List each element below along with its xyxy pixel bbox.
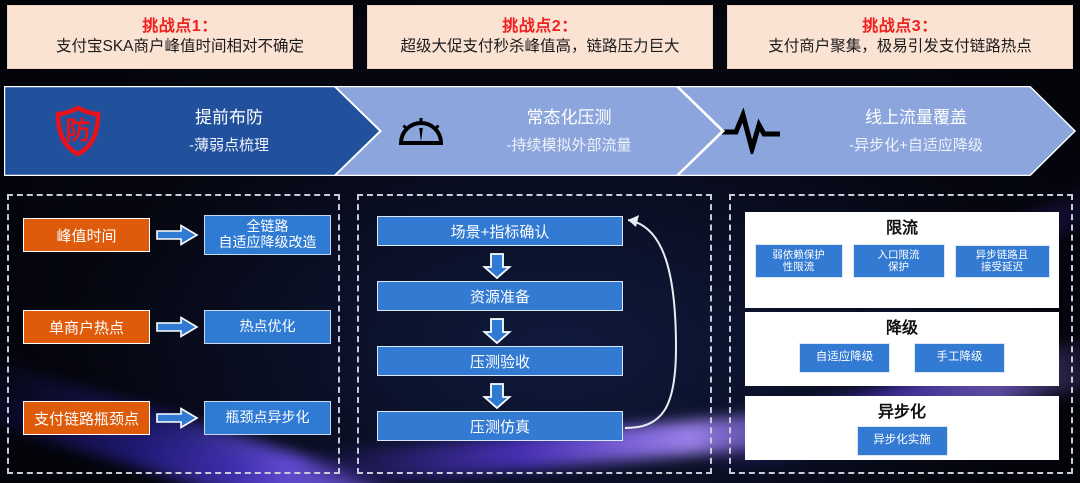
chip-item[interactable]: 异步链路且 接受延迟 — [955, 245, 1050, 278]
chip-group: 弱依赖保护 性限流 入口限流 保护 异步链路且 接受延迟 — [755, 244, 1050, 278]
chip-line-2: 接受延迟 — [981, 261, 1023, 273]
challenge-title: 挑战点1： — [142, 19, 217, 35]
right-panel: 限流 弱依赖保护 性限流 入口限流 保护 异步链路且 — [729, 194, 1073, 474]
challenge-row: 挑战点1： 支付宝SKA商户峰值时间相对不确定 挑战点2： 超级大促支付秒杀峰值… — [0, 0, 1080, 74]
flow-step-4[interactable]: 压测仿真 — [377, 411, 623, 441]
card-degrade: 降级 自适应降级 手工降级 — [745, 312, 1059, 386]
problem-box[interactable]: 峰值时间 — [23, 218, 150, 252]
chip-line-1: 入口限流 — [878, 249, 920, 261]
left-panel: 峰值时间 全链路 自适应降级改造 单商户热点 热点优化 — [7, 194, 340, 474]
middle-panel: 场景+指标确认 资源准备 压测验收 压测仿真 — [357, 194, 712, 474]
chip-line-1: 弱依赖保护 — [772, 249, 825, 261]
card-async: 异步化 异步化实施 — [745, 396, 1059, 460]
chip-line-1: 异步链路且 — [976, 249, 1029, 261]
arrow-down-icon — [482, 317, 512, 345]
flow-step-2[interactable]: 资源准备 — [377, 281, 623, 311]
chip-group: 异步化实施 — [857, 426, 948, 456]
chip-item[interactable]: 入口限流 保护 — [853, 244, 945, 278]
challenge-title: 挑战点3： — [862, 19, 937, 35]
chip-item[interactable]: 手工降级 — [914, 343, 1005, 373]
feedback-loop-arrow — [614, 198, 698, 436]
solution-line-2: 自适应降级改造 — [219, 234, 317, 250]
chip-group: 自适应降级 手工降级 — [799, 343, 1005, 373]
challenge-title: 挑战点2： — [502, 19, 577, 35]
card-heading: 限流 — [886, 221, 918, 237]
challenge-desc: 支付商户聚集，极易引发支付链路热点 — [768, 39, 1032, 55]
flow-step-3[interactable]: 压测验收 — [377, 346, 623, 376]
left-row-1: 峰值时间 全链路 自适应降级改造 — [23, 218, 331, 252]
chip-line-2: 性限流 — [783, 261, 815, 273]
arrow-down-icon — [482, 382, 512, 410]
card-limit: 限流 弱依赖保护 性限流 入口限流 保护 异步链路且 — [745, 212, 1059, 308]
card-heading: 降级 — [886, 321, 918, 337]
arrow-down-icon — [482, 252, 512, 280]
band-outline — [4, 86, 1076, 176]
chip-item[interactable]: 弱依赖保护 性限流 — [755, 244, 843, 278]
card-heading: 异步化 — [878, 405, 926, 421]
problem-box[interactable]: 支付链路瓶颈点 — [23, 401, 150, 435]
left-row-3: 支付链路瓶颈点 瓶颈点异步化 — [23, 401, 331, 435]
solution-line-1: 全链路 — [247, 218, 289, 234]
challenge-card-3: 挑战点3： 支付商户聚集，极易引发支付链路热点 — [727, 5, 1073, 69]
chip-line-2: 保护 — [888, 261, 909, 273]
chip-item[interactable]: 自适应降级 — [799, 343, 890, 373]
slide-canvas: 挑战点1： 支付宝SKA商户峰值时间相对不确定 挑战点2： 超级大促支付秒杀峰值… — [0, 0, 1080, 483]
challenge-card-2: 挑战点2： 超级大促支付秒杀峰值高，链路压力巨大 — [367, 5, 713, 69]
left-row-2: 单商户热点 热点优化 — [23, 310, 331, 344]
flow-step-1[interactable]: 场景+指标确认 — [377, 216, 623, 246]
solution-box[interactable]: 瓶颈点异步化 — [204, 401, 331, 435]
arrow-right-icon — [155, 406, 199, 430]
challenge-card-1: 挑战点1： 支付宝SKA商户峰值时间相对不确定 — [7, 5, 353, 69]
arrow-right-icon — [155, 315, 199, 339]
challenge-desc: 超级大促支付秒杀峰值高，链路压力巨大 — [400, 39, 679, 55]
process-band: 防 提前布防 -薄弱点梳理 常态化压测 -持 — [4, 86, 1076, 176]
challenge-desc: 支付宝SKA商户峰值时间相对不确定 — [56, 39, 304, 55]
solution-box[interactable]: 全链路 自适应降级改造 — [204, 215, 331, 255]
solution-box[interactable]: 热点优化 — [204, 310, 331, 344]
problem-box[interactable]: 单商户热点 — [23, 310, 150, 344]
chip-item[interactable]: 异步化实施 — [857, 426, 948, 456]
arrow-right-icon — [155, 223, 199, 247]
